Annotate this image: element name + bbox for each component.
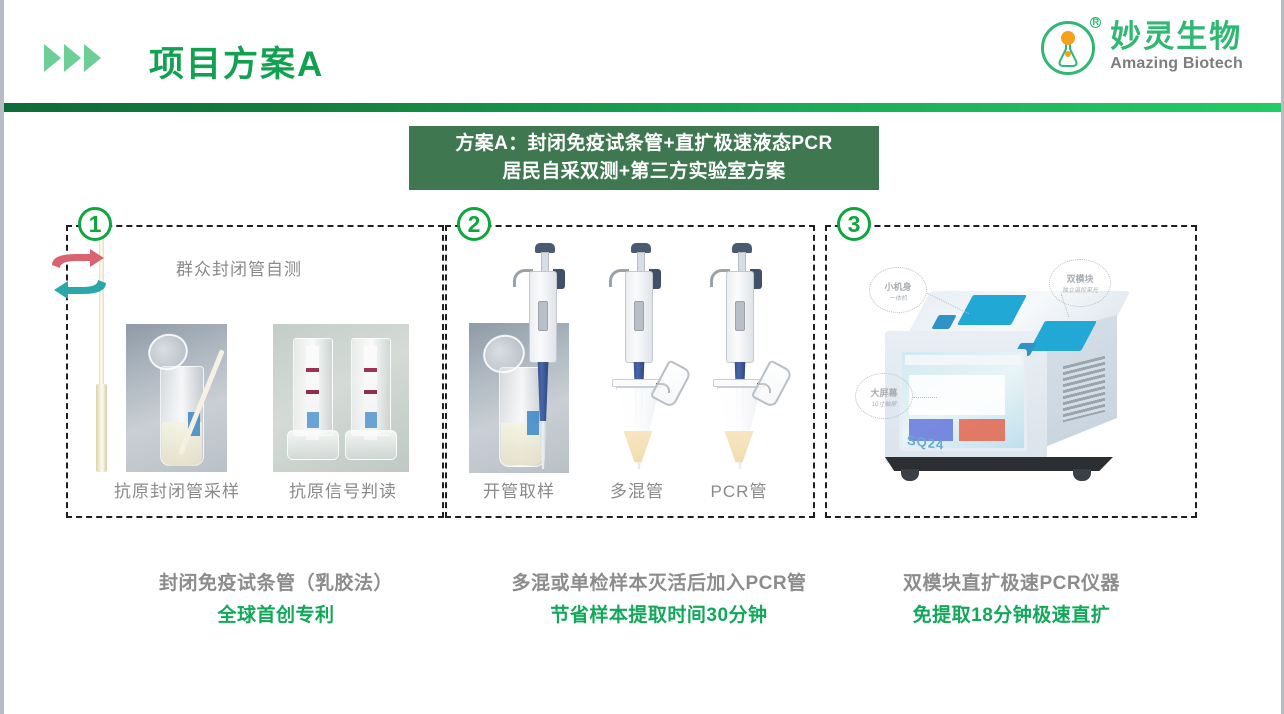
logo-text-block: 妙灵生物 Amazing Biotech [1110,21,1243,73]
step-2: 2 开管取样 [445,207,815,518]
tube-liquid [717,431,761,465]
instrument-screen-button-red [959,419,1005,441]
step-1-photo-1-caption: 抗原封闭管采样 [92,477,262,502]
rotation-arrows-icon [46,247,112,301]
pipette-volume-window [634,301,644,331]
header-divider [4,103,1281,112]
banner-line-2: 居民自采双测+第三方实验室方案 [502,158,785,186]
caption-1-line-2: 全球首创专利 [66,600,486,627]
registered-mark-icon: R [1090,17,1101,28]
pipette-tip [539,421,547,469]
pcr-tube-icon [713,379,765,469]
step-1-panel: 群众封闭管自测 抗原封闭管采样 [66,225,444,518]
antigen-test-band [364,390,377,394]
caption-3-line-2: 免提取18分钟极速直扩 [824,600,1199,627]
caption-1: 封闭免疫试条管（乳胶法） 全球首创专利 [66,568,486,627]
instrument-screen-toolbar [905,355,1021,365]
instrument-foot-left [901,469,919,481]
callout-small-body: 小机身 一体机 [869,267,927,313]
step-3-panel: SQ24 小机身 一体机 双模块 独立温控采光 大屏幕 10寸触屏 [825,225,1197,518]
caption-2-line-2: 节省样本提取时间30分钟 [459,600,859,627]
chevron-right-icon-2 [64,44,81,72]
page-title: 项目方案A [149,36,324,87]
caption-2-line-1: 多混或单检样本灭活后加入PCR管 [459,568,859,595]
caption-2: 多混或单检样本灭活后加入PCR管 节省样本提取时间30分钟 [459,568,859,627]
step-1-photo-2-caption: 抗原信号判读 [258,477,428,502]
step-1: 1 群众封闭管自测 抗原封闭管采样 [66,207,444,518]
caption-1-line-1: 封闭免疫试条管（乳胶法） [66,568,486,595]
antigen-control-band [364,368,377,372]
callout-dual-module: 双模块 独立温控采光 [1049,259,1111,307]
pipette-shaft [536,362,550,422]
swab-in-tube-photo [126,324,227,472]
logo-name-en: Amazing Biotech [1110,54,1243,73]
caption-3-line-1: 双模块直扩极速PCR仪器 [824,568,1199,595]
step-1-panel-label: 群众封闭管自测 [176,255,302,280]
pipette-plunger-rod [738,252,746,272]
scheme-banner: 方案A：封闭免疫试条管+直扩极速液态PCR 居民自采双测+第三方实验室方案 [409,126,879,190]
pipette-plunger-rod [637,252,645,272]
antigen-tube-left [287,338,339,460]
chevron-right-icon [44,44,101,72]
step-2-photo-3-caption: PCR管 [679,477,799,502]
callout-line-3 [913,397,937,398]
slide-canvas: 项目方案A R 妙灵生物 Amazing Biotech 方案A：封闭免疫试条管… [0,0,1284,714]
pcr-instrument-photo: SQ24 小机身 一体机 双模块 独立温控采光 大屏幕 10寸触屏 [877,257,1147,487]
antigen-test-band [306,390,319,394]
pipette-volume-window [538,301,548,331]
step-2-number: 2 [457,207,491,241]
antigen-tube-base [345,430,397,460]
flask-circle-logo-icon: R [1041,17,1101,77]
step-2-panel: 开管取样 多混管 [445,225,815,518]
pipette-plunger-rod [541,252,549,272]
step-3: 3 SQ24 小机身 [825,207,1197,518]
antigen-tube-brand-label [307,412,319,428]
chevron-right-icon-3 [84,44,101,72]
pipette-volume-window [735,301,745,331]
step-1-number: 1 [78,207,112,241]
caption-3: 双模块直扩极速PCR仪器 免提取18分钟极速直扩 [824,568,1199,627]
instrument-screen-grid [909,375,1005,415]
pooling-tube-icon [612,379,664,469]
antigen-control-band [306,368,319,372]
instrument-foot-right [1073,469,1091,481]
antigen-tube-right [345,338,397,460]
slide-header: 项目方案A R 妙灵生物 Amazing Biotech [4,0,1281,103]
antigen-tube-base [287,430,339,460]
company-logo: R 妙灵生物 Amazing Biotech [1041,17,1243,77]
swab-grip [96,384,107,472]
antigen-test-tubes-photo [273,324,409,472]
step-3-number: 3 [837,207,871,241]
banner-line-1: 方案A：封闭免疫试条管+直扩极速液态PCR [455,130,832,158]
chevron-right-icon-1 [44,44,61,72]
logo-name-cn: 妙灵生物 [1110,21,1243,54]
tube-liquid [616,431,660,465]
instrument-vent-grille [1063,356,1105,422]
pipette-1-icon [503,243,585,473]
callout-large-screen: 大屏幕 10寸触屏 [855,373,913,419]
step-2-photo-1-caption: 开管取样 [459,477,579,502]
antigen-tube-brand-label [365,412,377,428]
